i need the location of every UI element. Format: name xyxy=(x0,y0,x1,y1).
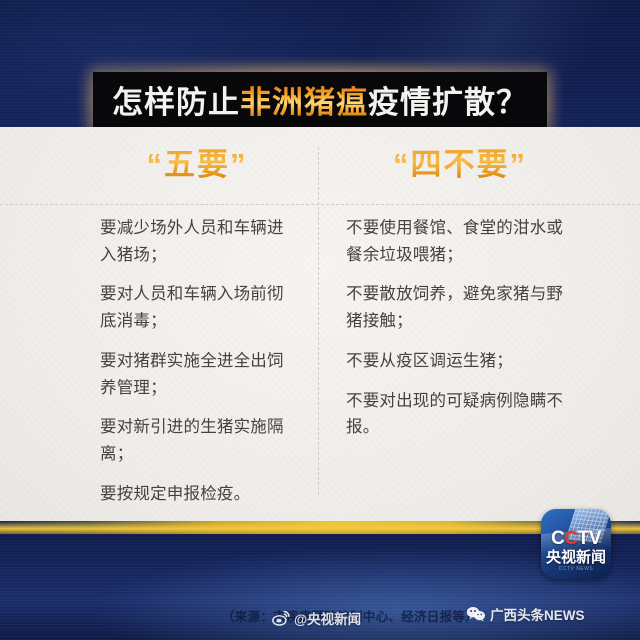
list-item: 不要使用餐馆、食堂的泔水或餐余垃圾喂猪； xyxy=(346,215,570,268)
logo-brand-v: V xyxy=(589,528,601,549)
title-highlight: 非洲猪瘟 xyxy=(240,85,368,120)
column-five-musts: “五要” 要减少场外人员和车辆进入猪场； 要对人员和车辆入场前彻底消毒； 要对猪… xyxy=(0,127,320,521)
horizontal-divider xyxy=(0,204,640,205)
content-card: “五要” 要减少场外人员和车辆进入猪场； 要对人员和车辆入场前彻底消毒； 要对猪… xyxy=(0,127,640,521)
logo-subtitle: CCTV NEWS xyxy=(541,567,611,572)
list-item: 不要从疫区调运生猪； xyxy=(346,348,570,375)
list-item: 要对人员和车辆入场前彻底消毒； xyxy=(100,281,290,334)
column-four-donts: “四不要” 不要使用餐馆、食堂的泔水或餐余垃圾喂猪； 不要散放饲养，避免家猪与野… xyxy=(320,127,640,521)
weibo-watermark: @央视新闻 xyxy=(272,608,361,628)
weibo-icon xyxy=(272,610,290,626)
column-heading-right: “四不要” xyxy=(320,149,640,180)
page-title: 怎样防止非洲猪瘟疫情扩散？ xyxy=(112,87,528,118)
list-five-musts: 要减少场外人员和车辆进入猪场； 要对人员和车辆入场前彻底消毒； 要对猪群实施全进… xyxy=(0,215,320,507)
title-bar: 怎样防止非洲猪瘟疫情扩散？ xyxy=(93,72,547,132)
title-suffix: 疫情扩散？ xyxy=(368,85,528,120)
logo-brand-c1: C xyxy=(551,528,564,549)
poster-root: 怎样防止非洲猪瘟疫情扩散？ “五要” 要减少场外人员和车辆进入猪场； 要对人员和… xyxy=(0,0,640,640)
logo-brand-red: C xyxy=(564,528,577,549)
list-item: 要对新引进的生猪实施隔离； xyxy=(100,414,290,467)
list-item: 要按规定申报检疫。 xyxy=(100,481,290,508)
title-prefix: 怎样防止 xyxy=(112,85,240,120)
list-item: 要减少场外人员和车辆进入猪场； xyxy=(100,215,290,268)
list-item: 不要散放饲养，避免家猪与野猪接触； xyxy=(346,281,570,334)
vertical-divider xyxy=(318,147,319,495)
wechat-icon xyxy=(466,606,486,622)
list-item: 要对猪群实施全进全出饲养管理； xyxy=(100,348,290,401)
list-item: 不要对出现的可疑病例隐瞒不报。 xyxy=(346,388,570,441)
logo-brand-t: T xyxy=(578,528,589,549)
weibo-handle: @央视新闻 xyxy=(294,608,361,628)
wechat-account: 广西头条NEWS xyxy=(490,604,585,624)
list-four-donts: 不要使用餐馆、食堂的泔水或餐余垃圾喂猪； 不要散放饲养，避免家猪与野猪接触； 不… xyxy=(320,215,640,441)
cctv-news-logo: CCTV 央视新闻 CCTV NEWS xyxy=(541,509,611,579)
column-heading-left: “五要” xyxy=(0,149,320,180)
columns-wrapper: “五要” 要减少场外人员和车辆进入猪场； 要对人员和车辆入场前彻底消毒； 要对猪… xyxy=(0,127,640,521)
logo-brand-text: CCTV xyxy=(541,529,611,548)
wechat-watermark: 广西头条NEWS xyxy=(466,604,585,624)
logo-name-cn: 央视新闻 xyxy=(541,550,611,565)
